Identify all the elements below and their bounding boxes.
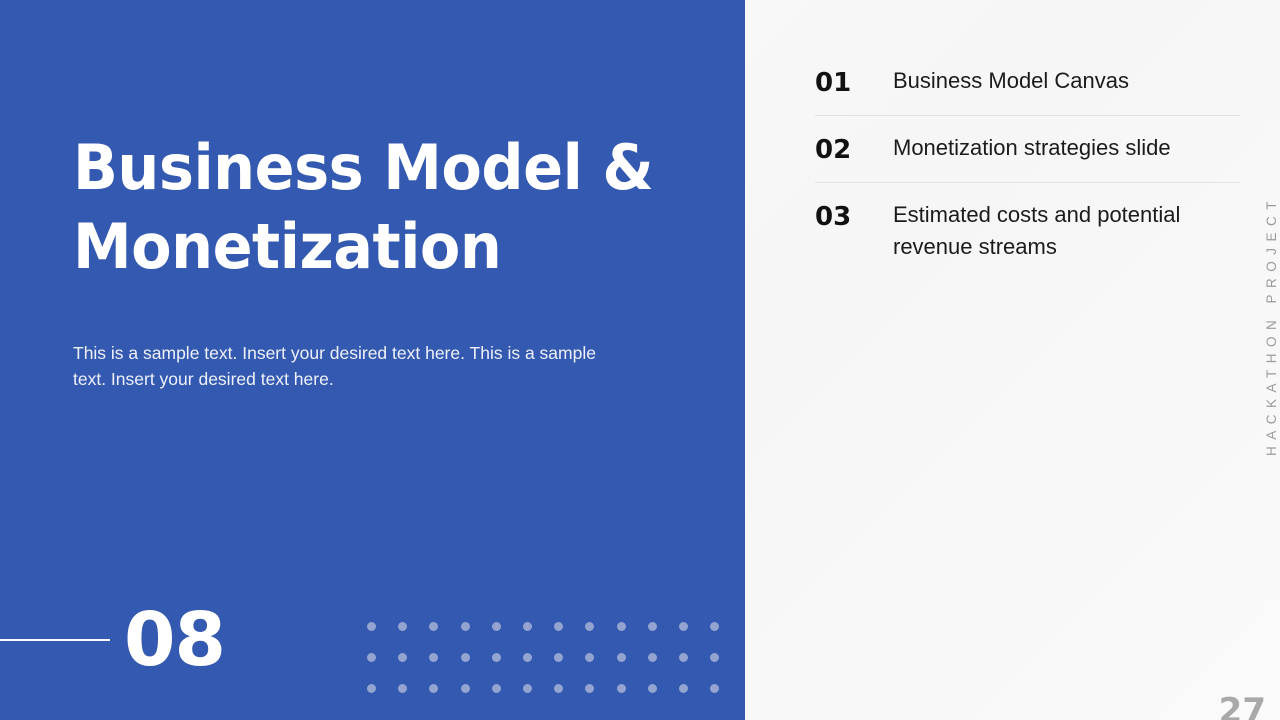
grid-dot	[710, 684, 719, 693]
section-number: 08	[124, 603, 225, 677]
grid-dot	[367, 653, 376, 662]
grid-dot	[648, 653, 657, 662]
grid-dot	[367, 684, 376, 693]
dot-grid-decoration	[367, 622, 711, 704]
list-item-number: 03	[815, 199, 893, 233]
grid-dot	[461, 622, 470, 631]
grid-dot	[617, 622, 626, 631]
grid-dot	[429, 622, 438, 631]
grid-dot	[429, 684, 438, 693]
page-title: Business Model & Monetization	[73, 128, 662, 286]
list-item-number: 01	[815, 65, 893, 99]
grid-dot	[585, 653, 594, 662]
grid-dot	[710, 622, 719, 631]
left-blue-panel: Business Model & Monetization This is a …	[0, 0, 745, 720]
grid-dot	[461, 653, 470, 662]
body-paragraph: This is a sample text. Insert your desir…	[73, 341, 633, 392]
grid-dot	[617, 653, 626, 662]
slide-root: Business Model & Monetization This is a …	[0, 0, 1280, 720]
list-item-label: Estimated costs and potential revenue st…	[893, 199, 1240, 263]
list-item[interactable]: 01 Business Model Canvas	[815, 65, 1240, 115]
grid-dot	[523, 622, 532, 631]
accent-rule	[0, 639, 110, 641]
grid-dot	[679, 684, 688, 693]
grid-dot	[523, 684, 532, 693]
list-item-number: 02	[815, 132, 893, 166]
list-item-label: Monetization strategies slide	[893, 132, 1240, 164]
page-number: 27	[1219, 694, 1266, 720]
list-item[interactable]: 02 Monetization strategies slide	[815, 115, 1240, 182]
grid-dot	[679, 622, 688, 631]
grid-dot	[617, 684, 626, 693]
grid-dot	[585, 684, 594, 693]
grid-dot	[554, 622, 563, 631]
list-item[interactable]: 03 Estimated costs and potential revenue…	[815, 182, 1240, 279]
grid-dot	[554, 684, 563, 693]
grid-dot	[429, 653, 438, 662]
grid-dot	[398, 653, 407, 662]
vertical-project-label: HACKATHON PROJECT	[1264, 195, 1279, 456]
grid-dot	[492, 684, 501, 693]
grid-dot	[648, 622, 657, 631]
right-content-panel: 01 Business Model Canvas 02 Monetization…	[745, 0, 1280, 720]
grid-dot	[585, 622, 594, 631]
grid-dot	[398, 622, 407, 631]
grid-dot	[367, 622, 376, 631]
grid-dot	[679, 653, 688, 662]
grid-dot	[523, 653, 532, 662]
grid-dot	[648, 684, 657, 693]
grid-dot	[398, 684, 407, 693]
grid-dot	[461, 684, 470, 693]
grid-dot	[554, 653, 563, 662]
numbered-item-list: 01 Business Model Canvas 02 Monetization…	[815, 65, 1240, 279]
grid-dot	[492, 653, 501, 662]
list-item-label: Business Model Canvas	[893, 65, 1240, 97]
grid-dot	[492, 622, 501, 631]
grid-dot	[710, 653, 719, 662]
